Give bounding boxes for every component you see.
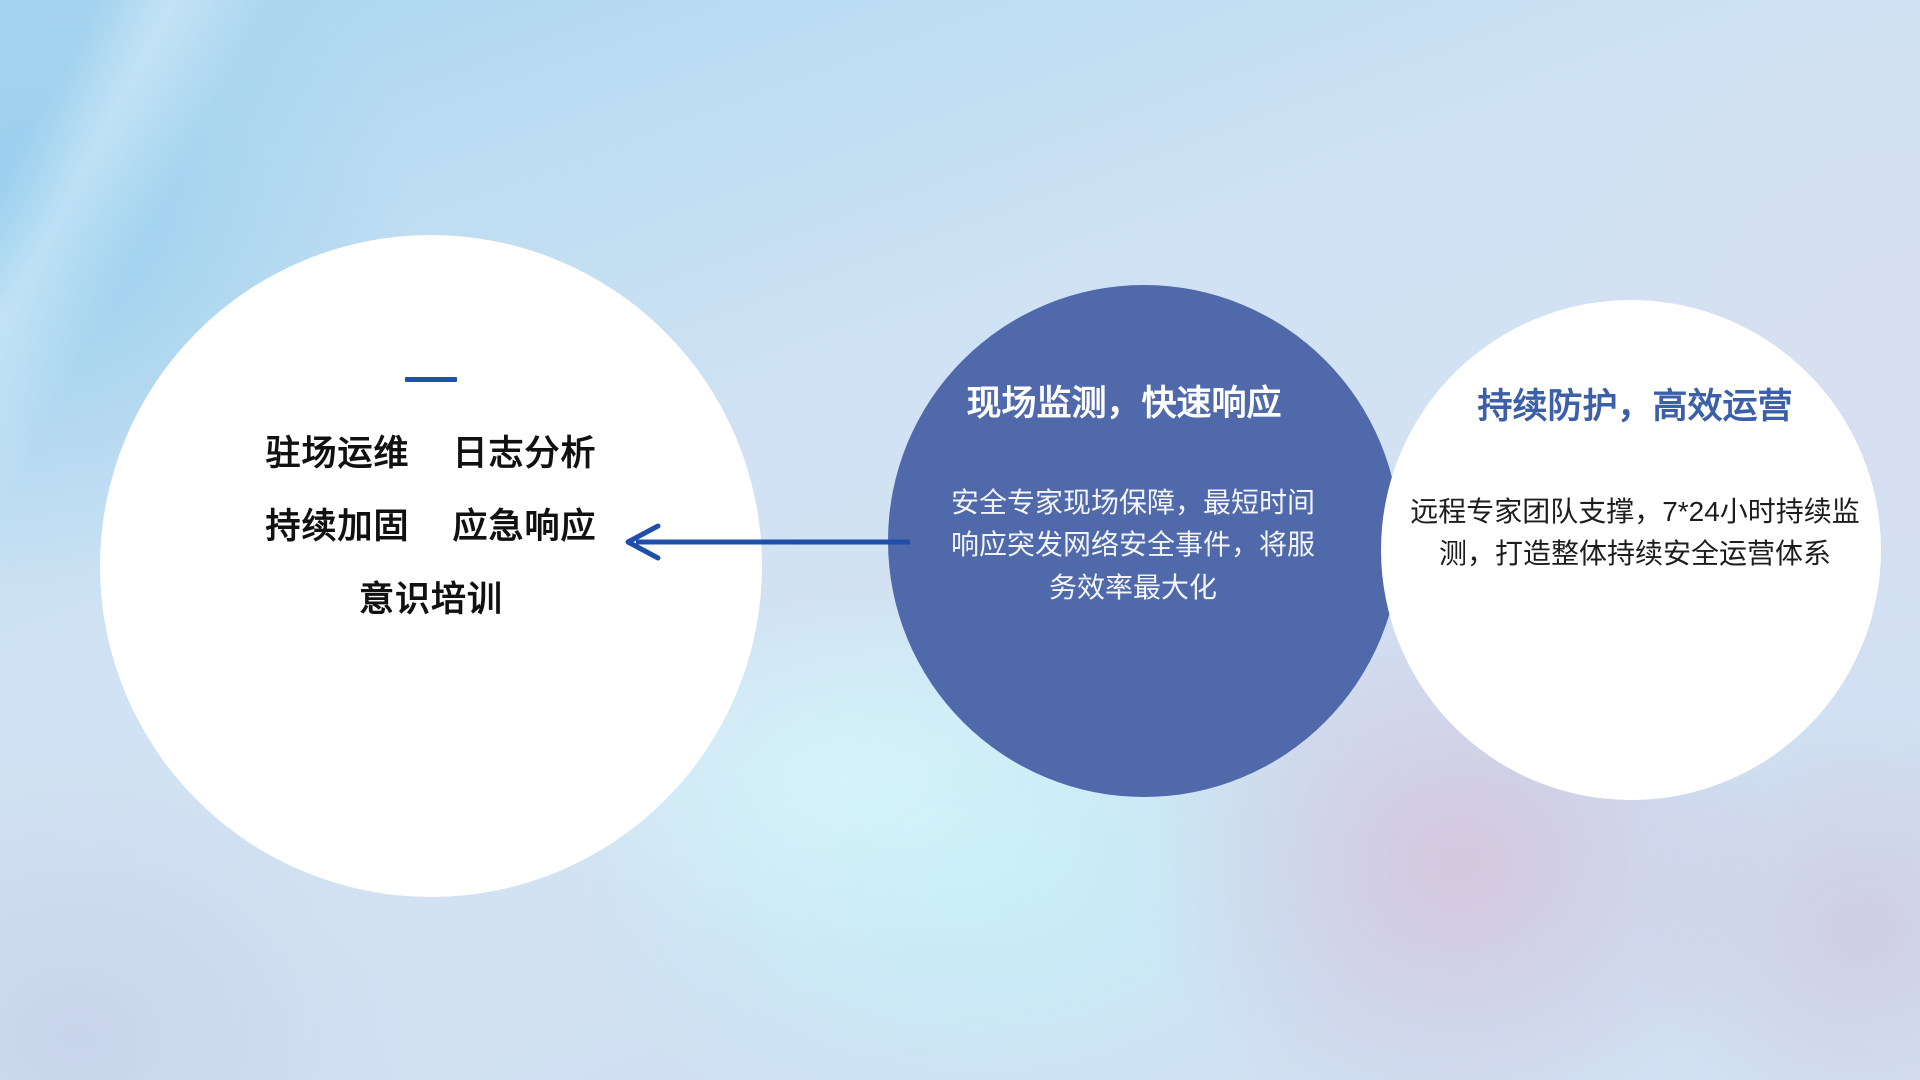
middle-circle-content: 现场监测，快速响应 安全专家现场保障，最短时间响应突发网络安全事件，将服务效率最… <box>888 285 1400 797</box>
middle-circle-body: 安全专家现场保障，最短时间响应突发网络安全事件，将服务效率最大化 <box>944 482 1322 610</box>
left-circle-line-3: 意识培训 <box>359 582 503 617</box>
left-circle-line-1: 驻场运维 日志分析 <box>266 436 597 471</box>
right-circle-body: 远程专家团队支撑，7*24小时持续监测，打造整体持续安全运营体系 <box>1409 491 1861 576</box>
left-circle-content: 驻场运维 日志分析 持续加固 应急响应 意识培训 <box>100 235 762 897</box>
middle-circle-title: 现场监测，快速响应 <box>926 385 1322 424</box>
right-circle-content: 持续防护，高效运营 远程专家团队支撑，7*24小时持续监测，打造整体持续安全运营… <box>1381 300 1881 800</box>
left-circle-line-2: 持续加固 应急响应 <box>266 509 597 544</box>
left-circle-divider-rule <box>405 377 457 382</box>
right-circle-title: 持续防护，高效运营 <box>1409 388 1861 427</box>
slide-canvas: 驻场运维 日志分析 持续加固 应急响应 意识培训 现场监测，快速响应 安全专家现… <box>0 0 1920 1080</box>
